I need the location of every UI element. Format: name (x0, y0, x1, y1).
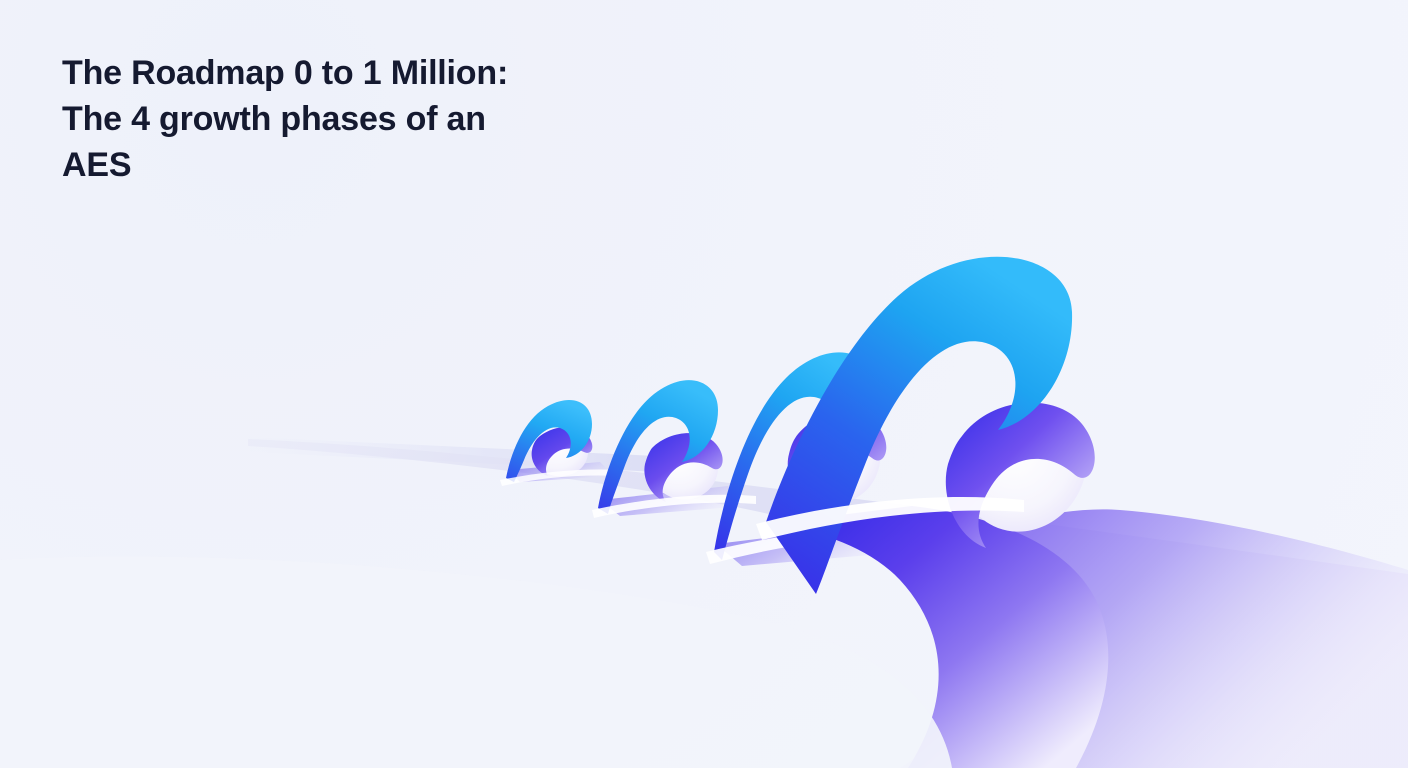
foreground-water (0, 557, 952, 768)
wave-1 (500, 400, 620, 486)
page-title: The Roadmap 0 to 1 Million: The 4 growth… (62, 50, 682, 188)
slide-canvas: The Roadmap 0 to 1 Million: The 4 growth… (0, 0, 1408, 768)
title-block: The Roadmap 0 to 1 Million: The 4 growth… (62, 50, 682, 188)
